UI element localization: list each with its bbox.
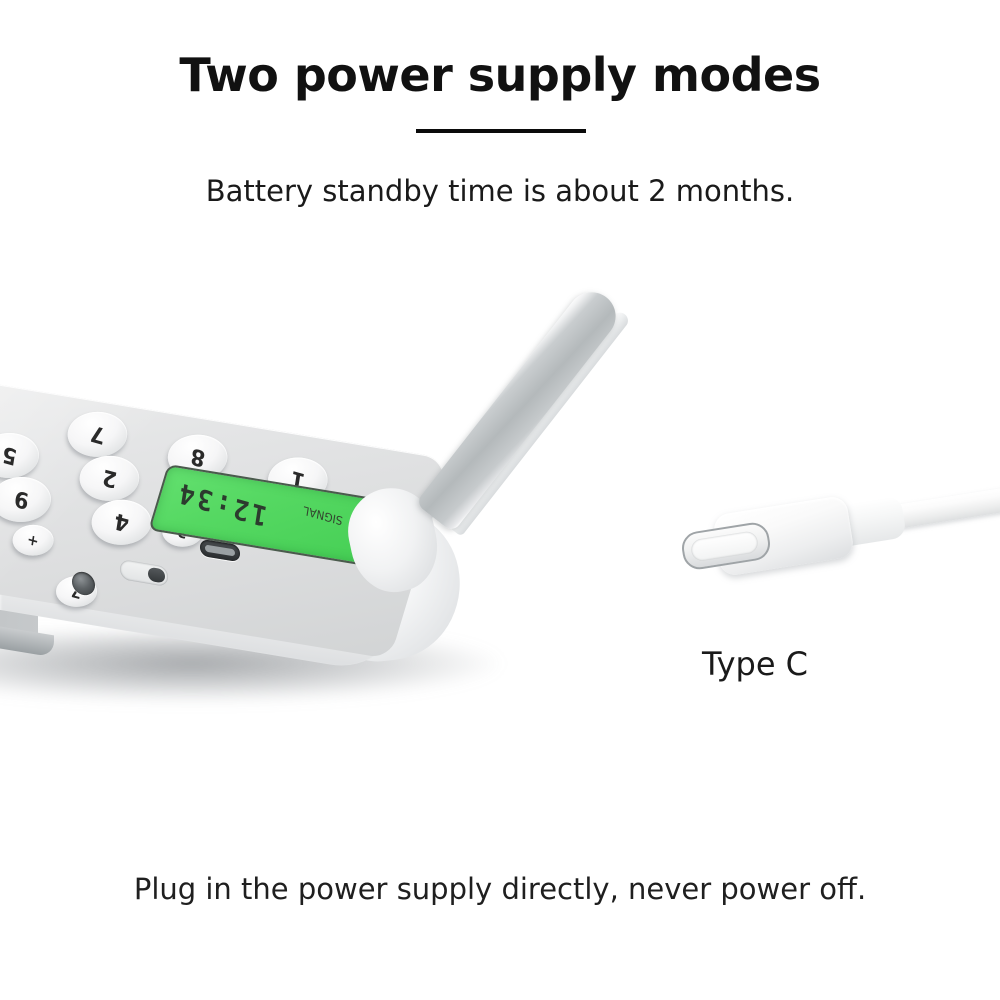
- keypad-key[interactable]: 4: [86, 496, 157, 550]
- lcd-digits: 12:34: [175, 475, 270, 531]
- usb-c-connector-inner: [690, 530, 760, 562]
- product-scene: 7 8 1 5 2 6 8 3 9 4 0 + 7 3 12:34 SIGNAL: [0, 250, 1000, 770]
- keypad-function-key-label: +: [26, 530, 40, 550]
- keypad-key[interactable]: 7: [62, 408, 133, 462]
- product-marketing-image: Two power supply modes Battery standby t…: [0, 0, 1000, 1000]
- cordless-phone-device: 7 8 1 5 2 6 8 3 9 4 0 + 7 3 12:34 SIGNAL: [0, 360, 490, 690]
- keypad-key-label: 5: [0, 441, 18, 470]
- keypad-key-label: 4: [112, 508, 130, 537]
- footer-caption: Plug in the power supply directly, never…: [0, 872, 1000, 906]
- title-divider: [416, 129, 586, 133]
- type-c-label: Type C: [702, 645, 808, 683]
- lcd-sub-label: SIGNAL: [302, 503, 343, 527]
- keypad-key-label: 2: [100, 464, 118, 493]
- keypad-key-label: 9: [12, 485, 30, 514]
- page-title: Two power supply modes: [0, 48, 1000, 102]
- retractable-antenna[interactable]: [415, 283, 625, 533]
- keypad-function-key[interactable]: +: [9, 522, 58, 559]
- keypad-key-label: 7: [88, 420, 106, 449]
- keypad-key[interactable]: 9: [0, 473, 57, 527]
- antenna-blade: [415, 283, 625, 533]
- usb-type-c-cable: [680, 485, 1000, 605]
- page-subtitle: Battery standby time is about 2 months.: [0, 174, 1000, 208]
- keypad-key[interactable]: 2: [74, 452, 145, 506]
- keypad-key[interactable]: 5: [0, 429, 45, 483]
